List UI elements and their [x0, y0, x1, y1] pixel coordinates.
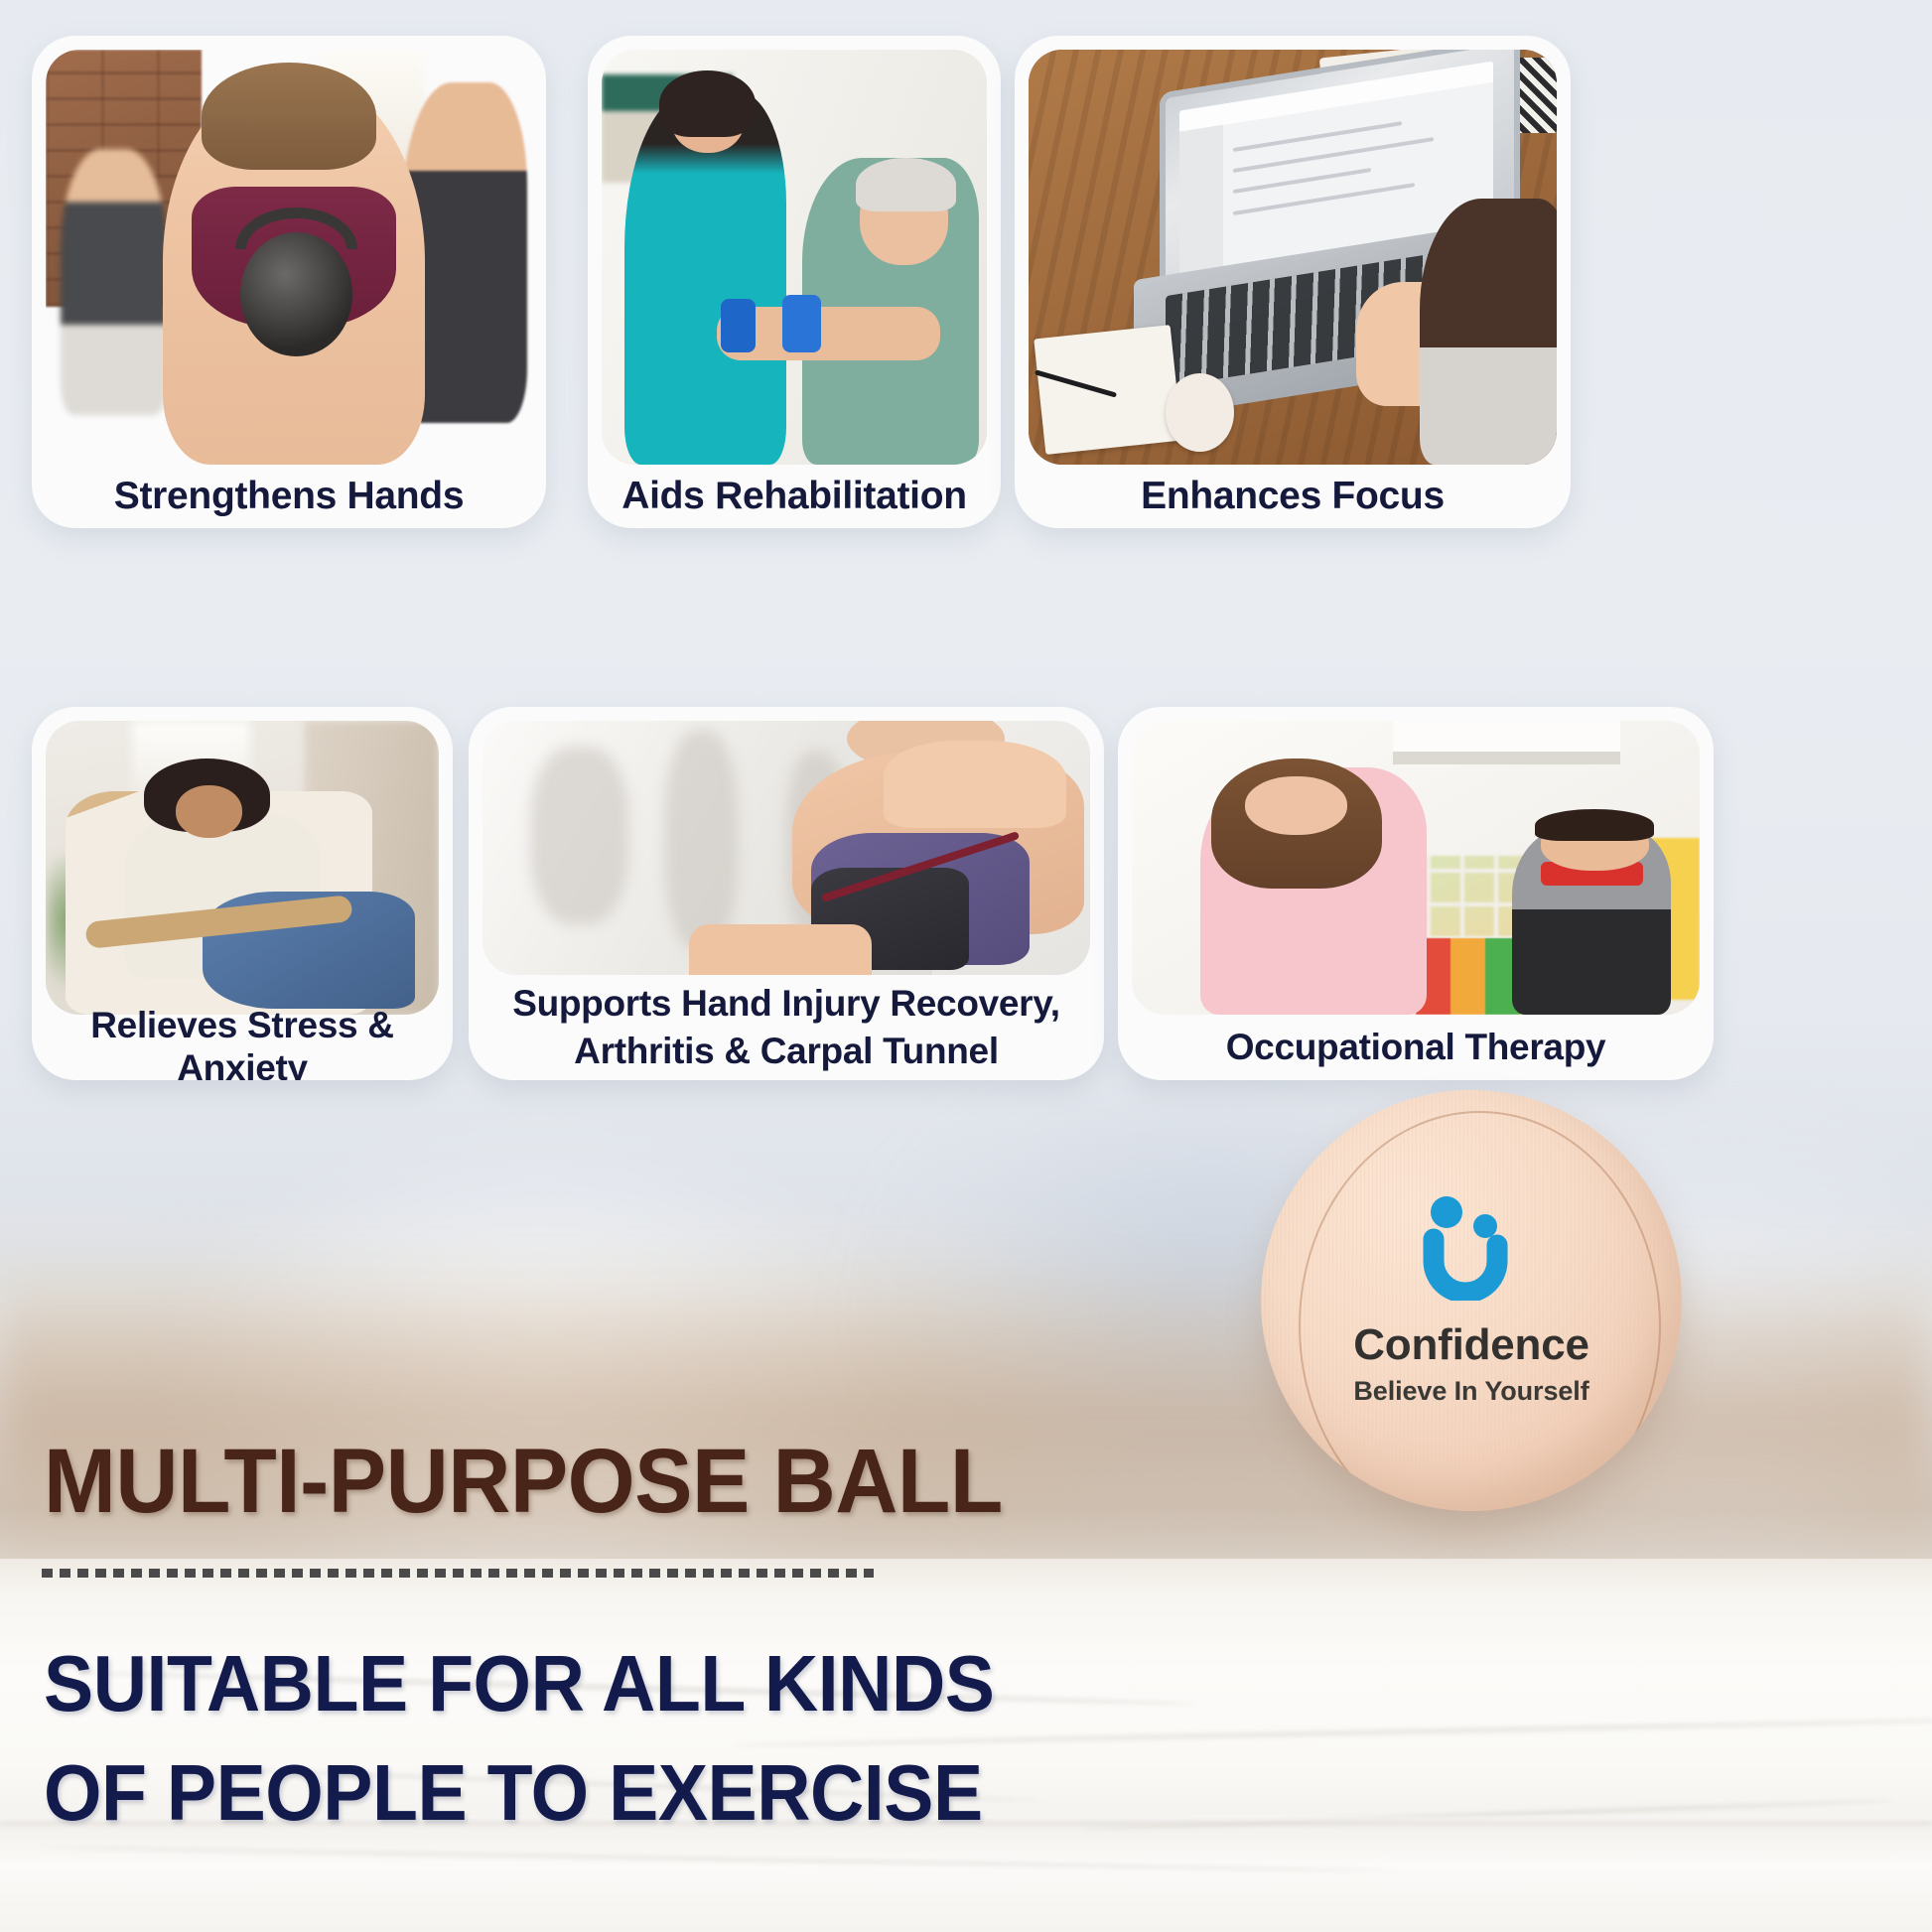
card-photo-enhances-focus — [1029, 50, 1557, 465]
card-label-relieves-stress-anxiety: Relieves Stress & Anxiety — [32, 1015, 453, 1080]
headline-multi-purpose-ball: MULTI-PURPOSE BALL — [44, 1430, 1003, 1534]
headline-suitable-line-1: SUITABLE FOR ALL KINDS — [44, 1638, 994, 1729]
brand-name: Confidence — [1353, 1320, 1589, 1370]
benefit-card-enhances-focus[interactable]: Enhances Focus — [1015, 36, 1571, 528]
benefit-card-strengthens-hands[interactable]: Strengthens Hands — [32, 36, 546, 528]
headline-dashed-divider — [42, 1569, 874, 1578]
marble-vein — [39, 1846, 1391, 1872]
benefit-card-hand-injury-recovery[interactable]: Supports Hand Injury Recovery, Arthritis… — [469, 707, 1104, 1080]
headline-suitable-line-2: OF PEOPLE TO EXERCISE — [44, 1747, 983, 1839]
marble-countertop — [0, 1559, 1932, 1932]
card-photo-strengthens-hands — [46, 50, 532, 465]
smiling-u-face-icon — [1420, 1195, 1523, 1301]
marble-vein — [1082, 1798, 1893, 1831]
card-photo-aids-rehabilitation — [602, 50, 987, 465]
benefit-card-occupational-therapy[interactable]: Occupational Therapy — [1118, 707, 1714, 1080]
brand-tagline: Believe In Yourself — [1353, 1376, 1588, 1407]
card-label-aids-rehabilitation: Aids Rehabilitation — [588, 465, 1001, 528]
card-label-line-2: Arthritis & Carpal Tunnel — [574, 1031, 999, 1073]
card-label-line-1: Supports Hand Injury Recovery, — [512, 983, 1060, 1026]
card-label-strengthens-hands: Strengthens Hands — [32, 465, 546, 528]
card-photo-occupational-therapy — [1132, 721, 1700, 1015]
card-label-occupational-therapy: Occupational Therapy — [1118, 1015, 1714, 1080]
benefit-card-relieves-stress-anxiety[interactable]: Relieves Stress & Anxiety — [32, 707, 453, 1080]
card-photo-relieves-stress-anxiety — [46, 721, 439, 1015]
benefit-card-aids-rehabilitation[interactable]: Aids Rehabilitation — [588, 36, 1001, 528]
card-label-hand-injury-recovery: Supports Hand Injury Recovery, Arthritis… — [469, 975, 1104, 1080]
card-photo-hand-injury-recovery — [483, 721, 1090, 975]
product-ball: Confidence Believe In Yourself — [1261, 1090, 1682, 1511]
brand-logo: Confidence Believe In Yourself — [1261, 1090, 1682, 1511]
card-label-enhances-focus: Enhances Focus — [1015, 465, 1571, 528]
